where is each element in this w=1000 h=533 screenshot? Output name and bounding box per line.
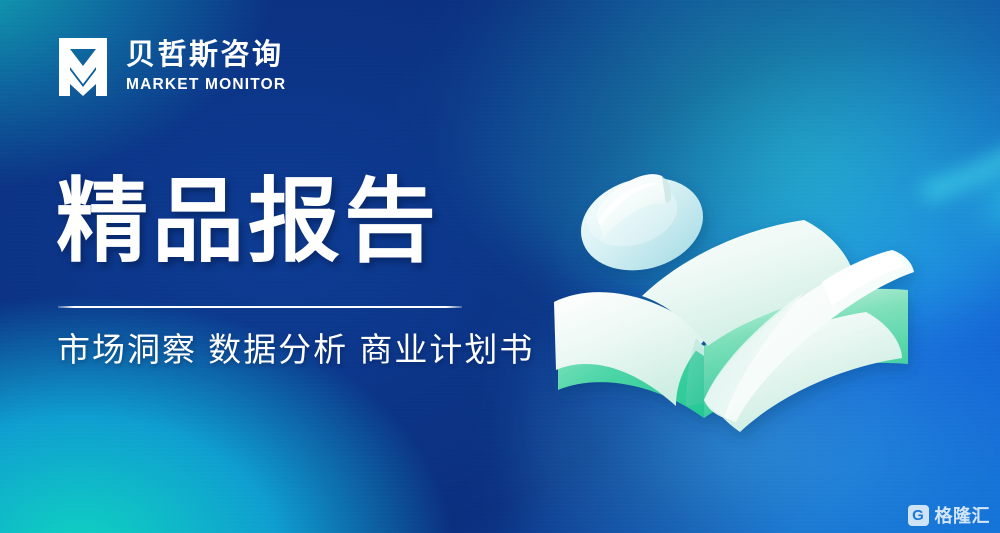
report-promo-banner: 贝哲斯咨询 MARKET MONITOR 精品报告 市场洞察 数据分析 商业计划… [0,0,1000,533]
open-book-illustration [536,150,956,440]
page-title: 精品报告 [56,176,440,268]
title-divider [58,306,462,308]
watermark: G 格隆汇 [908,505,991,526]
page-subtitle: 市场洞察 数据分析 商业计划书 [57,330,534,370]
brand-name-en: MARKET MONITOR [126,76,286,94]
brand-logo-text: 贝哲斯咨询 MARKET MONITOR [126,40,286,94]
brand-logo: 贝哲斯咨询 MARKET MONITOR [55,36,286,98]
gelonghui-logo-icon: G [908,505,929,526]
market-monitor-m-monogram-icon [55,36,111,98]
watermark-label: 格隆汇 [935,507,991,525]
brand-name-cn: 贝哲斯咨询 [126,40,286,71]
